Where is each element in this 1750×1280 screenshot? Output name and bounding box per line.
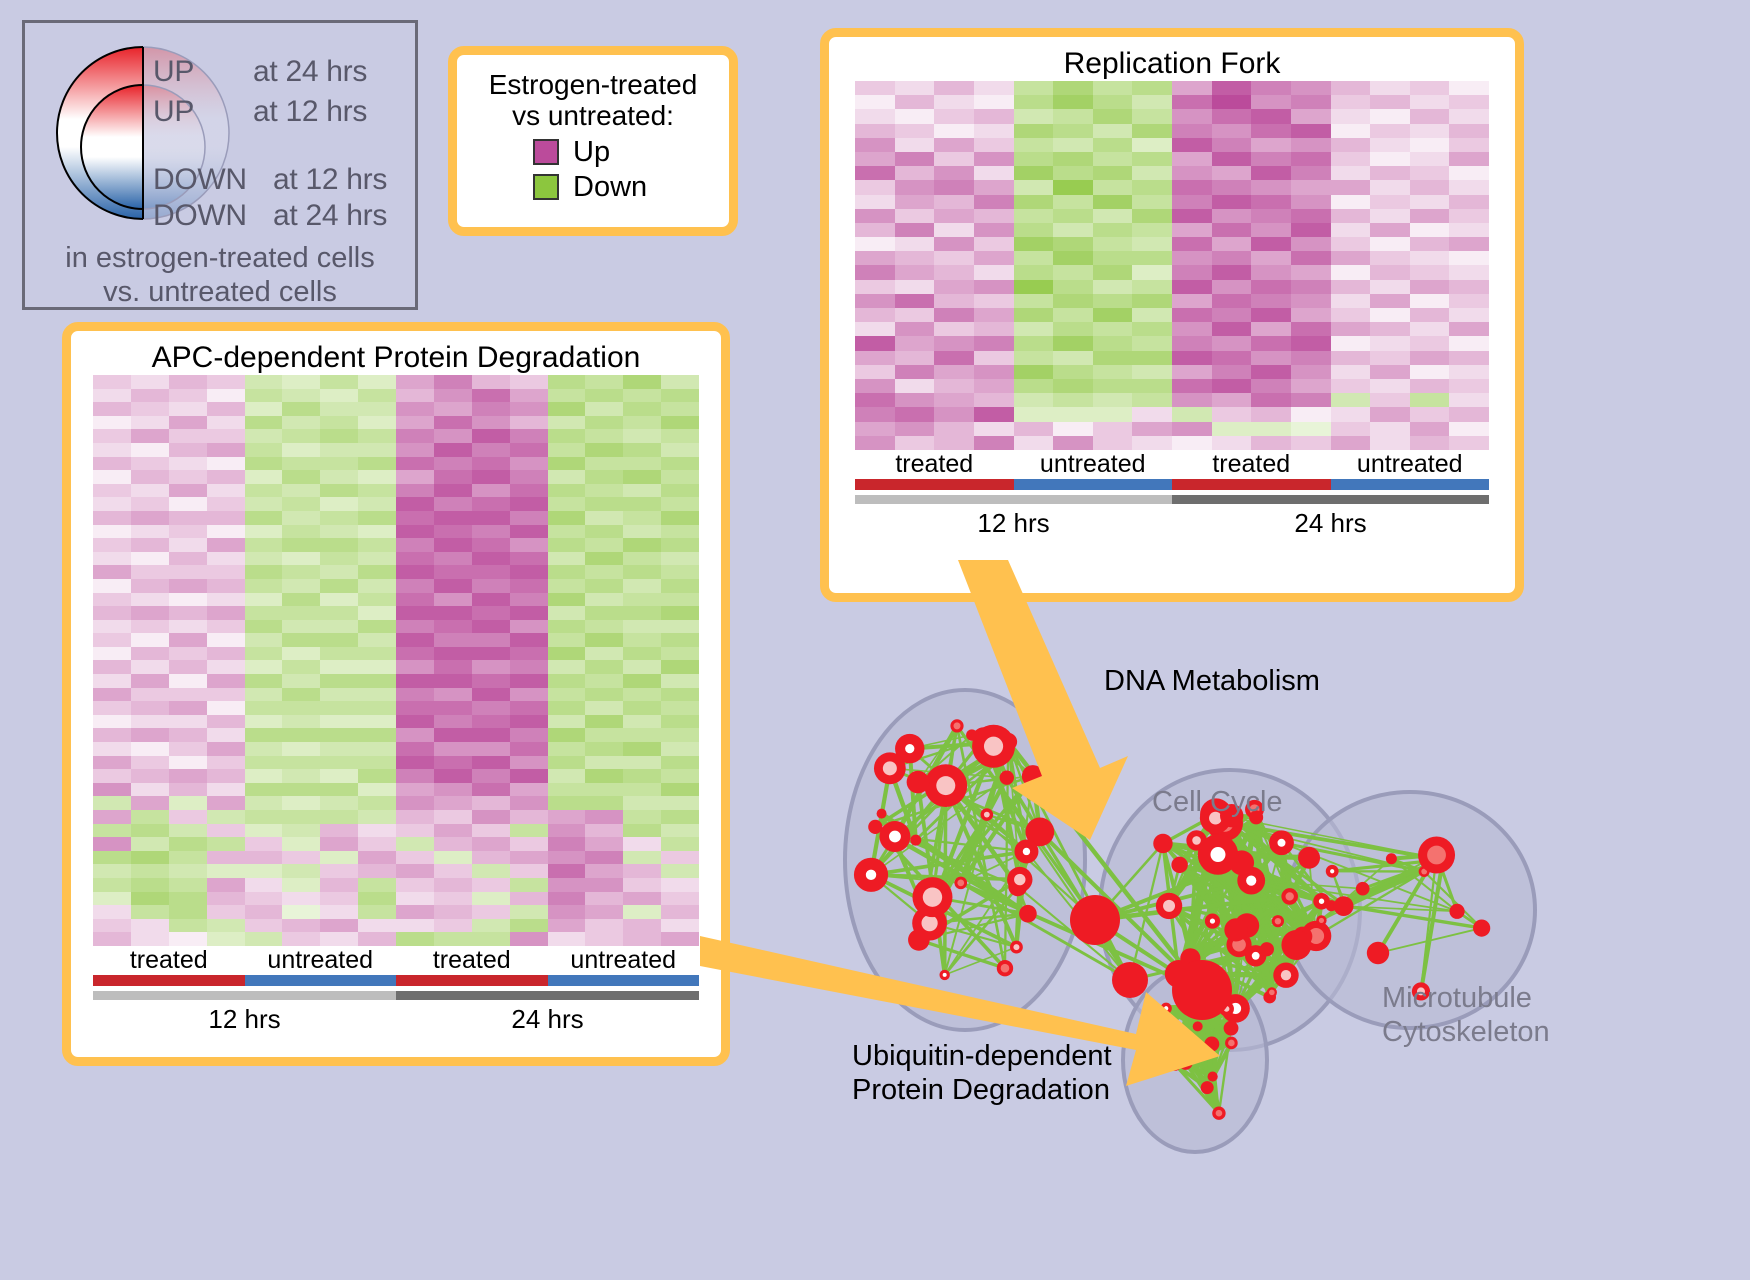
legend-direction-1: UP <box>153 95 194 129</box>
apc-condition-labels: treateduntreatedtreateduntreated <box>93 946 699 975</box>
network-node[interactable] <box>1356 882 1370 896</box>
legend-time-0: at 24 hrs <box>253 55 367 89</box>
time-color-bar <box>855 495 1172 504</box>
network-node[interactable] <box>1212 1106 1225 1119</box>
down-color-swatch <box>533 174 559 200</box>
cluster-label-ubiquitin-protein-degradation: Ubiquitin-dependent Protein Degradation <box>852 1040 1112 1107</box>
network-node[interactable] <box>1171 857 1187 873</box>
up-down-color-legend: Estrogen-treated vs untreated: Up Down <box>448 46 738 236</box>
network-node[interactable] <box>1019 905 1037 923</box>
replication-fork-condition-labels: treateduntreatedtreateduntreated <box>855 450 1489 479</box>
time-color-bar <box>1172 495 1489 504</box>
condition-color-bar <box>93 975 245 986</box>
condition-label: treated <box>396 946 548 975</box>
legend-caption-line1: in estrogen-treated cells <box>25 241 415 275</box>
condition-color-bar <box>855 479 1014 490</box>
condition-color-bar <box>396 975 548 986</box>
condition-label: treated <box>93 946 245 975</box>
panel-replication-fork: Replication Fork treateduntreatedtreated… <box>820 28 1524 602</box>
apc-heatmap <box>93 375 699 946</box>
condition-label: untreated <box>245 946 397 975</box>
legend-item-down: Down <box>533 173 729 202</box>
condition-color-bar <box>1014 479 1173 490</box>
condition-color-bar <box>1331 479 1490 490</box>
network-node[interactable] <box>1272 915 1284 927</box>
condition-label: treated <box>1172 450 1331 479</box>
network-node[interactable] <box>1418 837 1455 874</box>
network-node[interactable] <box>1386 853 1397 864</box>
legend-item-up: Up <box>533 138 729 167</box>
network-node[interactable] <box>1269 830 1294 855</box>
network-node[interactable] <box>874 752 906 784</box>
condition-color-bar <box>245 975 397 986</box>
time-label: 12 hrs <box>855 508 1172 539</box>
arrow-to-dna-metabolism <box>950 560 1160 850</box>
up-color-swatch <box>533 139 559 165</box>
network-node[interactable] <box>1260 942 1274 956</box>
condition-label: treated <box>855 450 1014 479</box>
network-node[interactable] <box>1281 888 1298 905</box>
updown-title-line2: vs untreated: <box>457 100 729 131</box>
network-node[interactable] <box>1316 915 1326 925</box>
time-label: 24 hrs <box>396 1004 699 1035</box>
network-node[interactable] <box>1334 896 1354 916</box>
network-node[interactable] <box>1273 963 1298 988</box>
network-node[interactable] <box>912 877 952 917</box>
replication-fork-title: Replication Fork <box>829 47 1515 81</box>
network-node[interactable] <box>1298 847 1320 869</box>
network-node[interactable] <box>910 835 921 846</box>
replication-fork-condition-bar <box>855 479 1489 490</box>
legend-time-2: at 12 hrs <box>273 163 387 197</box>
replication-fork-time-bar <box>855 495 1489 504</box>
legend-time-3: at 24 hrs <box>273 199 387 233</box>
time-color-bar <box>93 991 396 1000</box>
network-node[interactable] <box>1326 865 1339 878</box>
condition-color-bar <box>1172 479 1331 490</box>
apc-condition-bar <box>93 975 699 986</box>
legend-direction-0: UP <box>153 55 194 89</box>
down-label: Down <box>573 173 647 202</box>
network-node[interactable] <box>1186 830 1206 850</box>
network-node[interactable] <box>1205 913 1220 928</box>
apc-title: APC-dependent Protein Degradation <box>71 341 721 375</box>
legend-time-1: at 12 hrs <box>253 95 367 129</box>
apc-time-labels: 12 hrs24 hrs <box>93 1004 699 1035</box>
condition-label: untreated <box>548 946 700 975</box>
network-node[interactable] <box>1281 930 1311 960</box>
direction-legend-box: UP at 24 hrs UP at 12 hrs DOWN at 12 hrs… <box>22 20 418 310</box>
cluster-label-cell-cycle: Cell Cycle <box>1152 786 1283 819</box>
up-label: Up <box>573 138 610 167</box>
legend-direction-2: DOWN <box>153 163 247 197</box>
cluster-label-dna-metabolism: DNA Metabolism <box>1104 665 1320 698</box>
time-label: 24 hrs <box>1172 508 1489 539</box>
network-node[interactable] <box>1449 904 1464 919</box>
cluster-label-microtubule-cytoskeleton: Microtubule Cytoskeleton <box>1382 982 1550 1049</box>
replication-fork-time-labels: 12 hrs24 hrs <box>855 508 1489 539</box>
time-color-bar <box>396 991 699 1000</box>
updown-title-line1: Estrogen-treated <box>457 69 729 100</box>
network-node[interactable] <box>1007 867 1032 892</box>
legend-direction-3: DOWN <box>153 199 247 233</box>
apc-time-bar <box>93 991 699 1000</box>
time-label: 12 hrs <box>93 1004 396 1035</box>
network-node[interactable] <box>907 771 930 794</box>
network-node[interactable] <box>877 809 887 819</box>
condition-label: untreated <box>1014 450 1173 479</box>
network-node[interactable] <box>1156 893 1182 919</box>
network-node[interactable] <box>879 821 910 852</box>
network-node[interactable] <box>1473 919 1490 936</box>
network-node[interactable] <box>1367 942 1389 964</box>
replication-fork-heatmap <box>855 81 1489 450</box>
network-node[interactable] <box>1267 987 1277 997</box>
condition-label: untreated <box>1331 450 1490 479</box>
network-node[interactable] <box>954 877 967 890</box>
panel-apc-dependent-protein-degradation: APC-dependent Protein Degradation treate… <box>62 322 730 1066</box>
network-node[interactable] <box>854 858 888 892</box>
legend-caption-line2: vs. untreated cells <box>25 275 415 309</box>
condition-color-bar <box>548 975 700 986</box>
